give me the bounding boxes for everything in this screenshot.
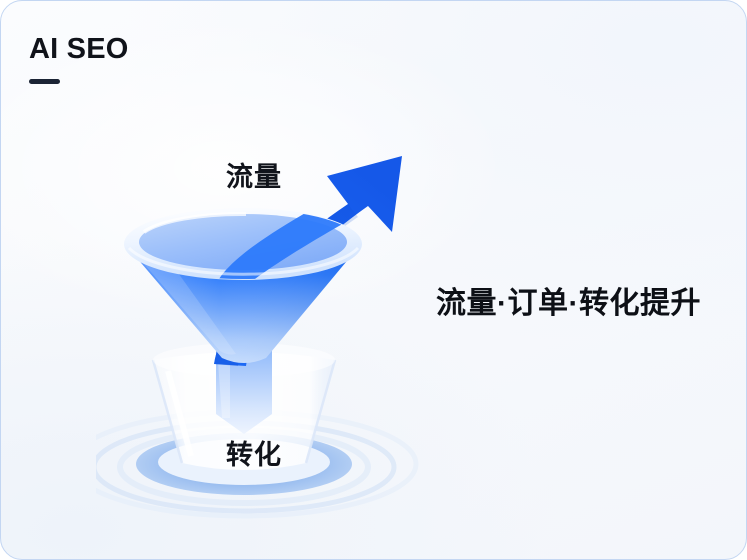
tagline-text: 流量·订单·转化提升 [436, 278, 701, 322]
page-title-block: AI SEO [29, 35, 129, 84]
page-title: AI SEO [29, 35, 129, 64]
title-accent-rule [29, 79, 60, 84]
seo-illustration-card: AI SEO 流量·订单·转化提升 [0, 0, 747, 560]
label-conversion: 转化 [226, 433, 282, 472]
label-traffic: 流量 [226, 155, 282, 194]
